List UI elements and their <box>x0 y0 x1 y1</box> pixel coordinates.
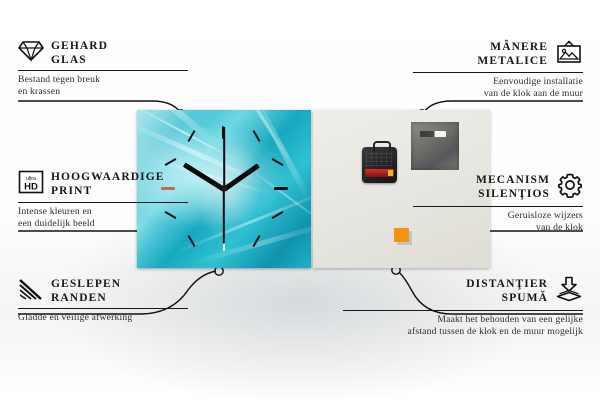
callout-title: GEHARD GLAS <box>51 40 108 67</box>
callout-title: MECANISM SILENŢIOS <box>476 174 550 201</box>
callout-header: GEHARD GLAS <box>18 40 188 67</box>
hour-tick <box>252 130 260 142</box>
callout-manere-metalice: MÂNERE METALICE Eenvoudige installatie v… <box>413 40 583 100</box>
callout-description: Intense kleuren en een duidelijk beeld <box>18 206 188 230</box>
battery <box>365 169 394 177</box>
callout-description: Geruisloze wijzers van de klok <box>413 210 583 234</box>
callout-divider <box>18 308 188 309</box>
infographic-canvas: GEHARD GLAS Bestand tegen breuk en krass… <box>0 0 600 400</box>
callout-title: DISTANŢIER SPUMĂ <box>466 278 548 305</box>
callout-description: Eenvoudige installatie van de klok aan d… <box>413 76 583 100</box>
beveled-edges-icon <box>18 278 44 305</box>
mechanism-texture <box>366 151 393 166</box>
callout-title: MÂNERE METALICE <box>477 41 548 68</box>
callout-header: GESLEPEN RANDEN <box>18 278 188 305</box>
picture-hook-icon <box>555 40 583 69</box>
callout-hoogwaardige-print: ultra HD HOOGWAARDIGE PRINT Intense kleu… <box>18 170 188 230</box>
callout-description: Maakt het behouden van een gelijke afsta… <box>343 314 583 338</box>
gear-icon <box>557 172 583 203</box>
minute-hand <box>183 162 226 191</box>
diamond-icon <box>18 40 44 67</box>
metal-hanger-plate <box>411 122 459 170</box>
callout-header: MÂNERE METALICE <box>413 40 583 69</box>
hour-tick <box>252 235 260 247</box>
foam-spacer <box>394 228 409 242</box>
callout-divider <box>343 310 583 311</box>
callout-header: ultra HD HOOGWAARDIGE PRINT <box>18 170 188 199</box>
quartz-mechanism-box <box>362 147 397 183</box>
callout-description: Gladde en veilige afwerking <box>18 312 188 324</box>
svg-text:HD: HD <box>24 182 38 193</box>
hour-tick <box>271 211 283 219</box>
callout-description: Bestand tegen breuk en krassen <box>18 74 188 98</box>
foam-spacer-icon <box>555 276 583 307</box>
callout-mecanism-silentios: MECANISM SILENŢIOS Geruisloze wijzers va… <box>413 172 583 234</box>
callout-divider <box>18 202 188 203</box>
callout-gehard-glas: GEHARD GLAS Bestand tegen breuk en krass… <box>18 40 188 98</box>
hanger-slot <box>420 131 446 137</box>
callout-title: HOOGWAARDIGE PRINT <box>51 171 165 198</box>
hour-hand <box>223 163 260 191</box>
clock-center-pin <box>222 186 227 191</box>
hour-tick <box>187 130 195 142</box>
callout-divider <box>413 206 583 207</box>
hour-tick <box>274 187 288 190</box>
second-hand-tail <box>223 127 225 189</box>
callout-divider <box>413 72 583 73</box>
callout-geslepen-randen: GESLEPEN RANDEN Gladde en veilige afwerk… <box>18 278 188 324</box>
callout-header: DISTANŢIER SPUMĂ <box>343 276 583 307</box>
callout-title: GESLEPEN RANDEN <box>51 278 121 305</box>
hour-tick <box>187 235 195 247</box>
battery-plus-terminal <box>388 170 393 176</box>
ultra-hd-icon: ultra HD <box>18 170 44 199</box>
hour-tick <box>164 158 176 166</box>
callout-header: MECANISM SILENŢIOS <box>413 172 583 203</box>
hour-tick <box>271 158 283 166</box>
callout-divider <box>18 70 188 71</box>
second-hand <box>223 189 225 244</box>
callout-distantier-spuma: DISTANŢIER SPUMĂ Maakt het behouden van … <box>343 276 583 338</box>
